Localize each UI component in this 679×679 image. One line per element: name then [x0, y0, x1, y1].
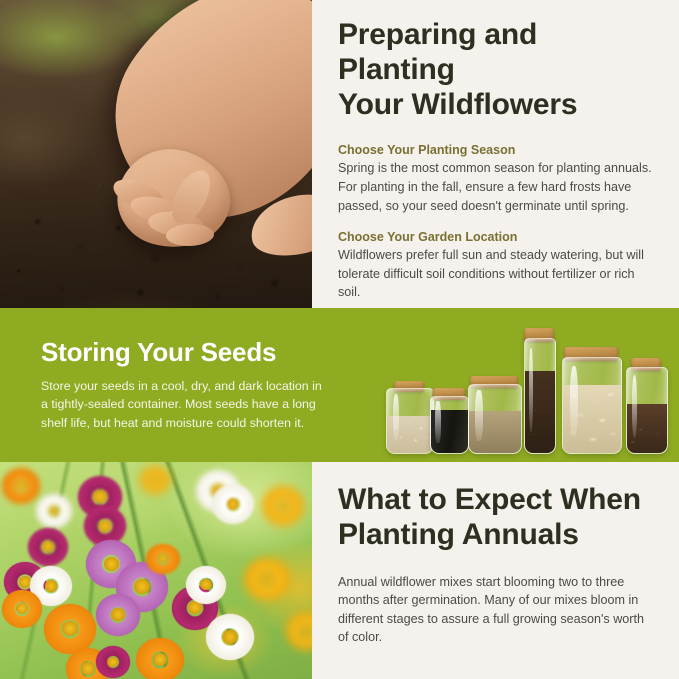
orange-cosmos-bloom [146, 544, 180, 574]
storing-your-seeds-band: Storing Your Seeds Store your seeds in a… [0, 308, 679, 462]
magenta-cosmos-bloom [28, 528, 68, 566]
expect-section-title: What to Expect When Planting Annuals [338, 483, 648, 553]
storing-section-title: Storing Your Seeds [41, 338, 331, 367]
expect-title-line-2: Planting Annuals [338, 518, 579, 551]
glass-highlight [475, 390, 482, 440]
glass-body [468, 384, 522, 454]
white-bean-jar [386, 380, 432, 454]
glass-body [626, 367, 668, 454]
orange-cosmos-bloom [2, 590, 42, 628]
seed-storage-jars-photo [378, 322, 670, 454]
expect-title-line-1: What to Expect When [338, 483, 641, 516]
white-cosmos-bloom [212, 484, 254, 524]
what-to-expect-section: What to Expect When Planting Annuals Ann… [338, 483, 648, 647]
orange-cosmos-bloom [136, 638, 184, 679]
glass-body [430, 396, 469, 454]
glass-body [562, 357, 622, 454]
glass-highlight [393, 394, 399, 441]
planting-season-subheading: Choose Your Planting Season [338, 142, 658, 159]
preparing-title-line-1: Preparing and Planting [338, 18, 537, 86]
background-bloom [36, 494, 72, 528]
preparing-section-title: Preparing and Planting Your Wildflowers [338, 18, 658, 122]
orange-cosmos-bloom [44, 604, 96, 654]
hands-sowing-seeds-in-soil-photo [0, 0, 312, 308]
magenta-cosmos-bloom [96, 646, 130, 678]
glass-body [386, 388, 434, 454]
preparing-title-line-2: Your Wildflowers [338, 88, 577, 121]
infographic-page: Preparing and Planting Your Wildflowers … [0, 0, 679, 679]
glass-highlight [529, 348, 533, 432]
glass-body [524, 338, 556, 454]
black-seed-jar [430, 388, 467, 454]
storing-text-block: Storing Your Seeds Store your seeds in a… [41, 338, 331, 432]
violet-cosmos-bloom [96, 594, 140, 636]
cosmos-wildflower-meadow-photo [0, 462, 312, 679]
pumpkin-seed-jar [562, 344, 620, 454]
white-cosmos-bloom [186, 566, 226, 604]
white-cosmos-bloom [206, 614, 254, 660]
background-bloom [140, 466, 170, 494]
background-bloom [2, 468, 40, 504]
expect-section-body: Annual wildflower mixes start blooming t… [338, 573, 648, 648]
storing-section-body: Store your seeds in a cool, dry, and dar… [41, 377, 331, 433]
garden-location-body: Wildflowers prefer full sun and steady w… [338, 246, 658, 302]
tall-dark-seed-tube [524, 328, 554, 454]
planting-season-group: Choose Your Planting Season Spring is th… [338, 142, 658, 215]
glass-highlight [570, 366, 578, 436]
background-bloom [262, 486, 304, 526]
background-bloom [244, 558, 290, 600]
garden-location-subheading: Choose Your Garden Location [338, 229, 658, 246]
planting-season-body: Spring is the most common season for pla… [338, 159, 658, 215]
garden-location-group: Choose Your Garden Location Wildflowers … [338, 229, 658, 302]
glass-highlight [435, 401, 440, 442]
sunflower-seed-jar [626, 356, 666, 454]
tan-grain-jar [468, 374, 520, 454]
